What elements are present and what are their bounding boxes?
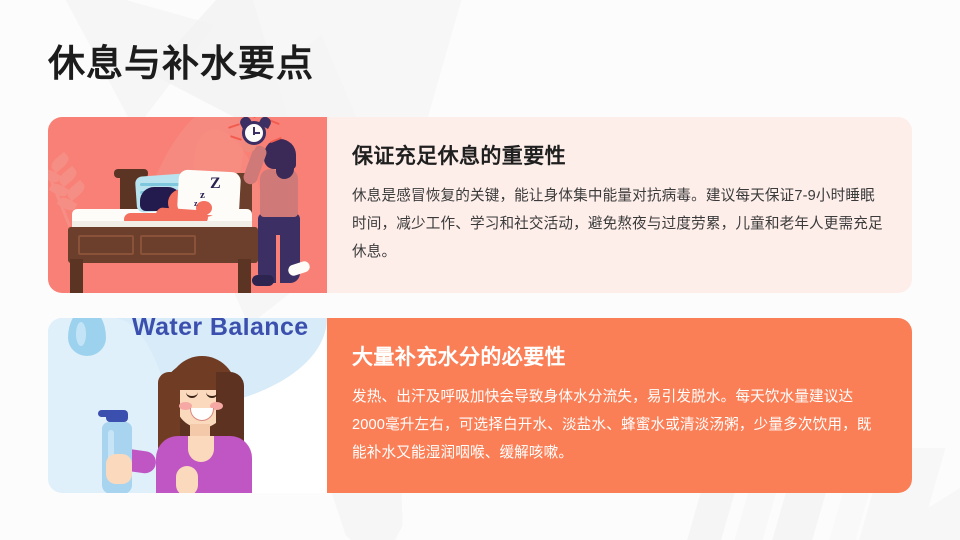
bed-leg: [70, 259, 83, 293]
water-bottle-spout: [98, 410, 112, 417]
card-water-text: 发热、出汗及呼吸加快会导致身体水分流失，易引发脱水。每天饮水量建议达2000毫升…: [352, 383, 884, 467]
alarm-ring-ray: [252, 117, 255, 118]
woman-hand: [106, 454, 132, 484]
standing-woman-hair: [276, 153, 294, 179]
sleep-z-icon: z: [194, 199, 198, 208]
card-rest[interactable]: Z z z: [48, 117, 912, 293]
standing-woman-leg-gap: [276, 235, 280, 283]
bed-frame-panel: [140, 235, 196, 255]
water-drop-icon: [68, 318, 106, 356]
water-balance-illustration: Water Balance: [48, 318, 327, 493]
card-water[interactable]: Water Balance: [48, 318, 912, 493]
sleep-z-icon: z: [200, 189, 205, 201]
card-water-illustration: Water Balance: [48, 318, 327, 493]
page-title: 休息与补水要点: [48, 41, 314, 87]
illustration-caption: Water Balance: [132, 318, 309, 342]
card-rest-body: 保证充足休息的重要性 休息是感冒恢复的关键，能让身体集中能量对抗病毒。建议每天保…: [327, 117, 912, 293]
sleeping-illustration: Z z z: [48, 117, 327, 293]
card-rest-heading: 保证充足休息的重要性: [352, 144, 884, 169]
card-water-heading: 大量补充水分的必要性: [352, 345, 884, 370]
woman-shirt-neckline: [188, 436, 214, 462]
card-rest-text: 休息是感冒恢复的关键，能让身体集中能量对抗病毒。建议每天保证7-9小时睡眠时间，…: [352, 182, 884, 266]
woman-thumbs-up-hand: [176, 466, 198, 493]
bed-frame-panel: [78, 235, 134, 255]
sleep-z-icon: Z: [210, 175, 221, 193]
bed-leg: [238, 259, 251, 293]
clock-hand: [253, 132, 260, 134]
sleeper-hand: [196, 201, 212, 215]
water-drop-highlight: [76, 322, 86, 346]
card-water-body: 大量补充水分的必要性 发热、出汗及呼吸加快会导致身体水分流失，易引发脱水。每天饮…: [327, 318, 912, 493]
standing-woman-shoe: [252, 275, 274, 286]
slide-canvas: 休息与补水要点: [0, 0, 960, 540]
card-rest-illustration: Z z z: [48, 117, 327, 293]
